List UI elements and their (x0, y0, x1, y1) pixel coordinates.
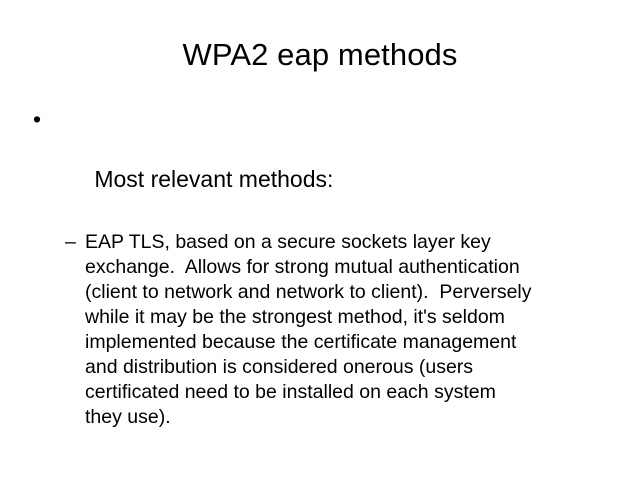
presentation-slide: WPA2 eap methods • Most relevant methods… (0, 0, 640, 480)
slide-body-content: • Most relevant methods: – EAP TLS, base… (0, 104, 640, 430)
bullet-item-level1: • Most relevant methods: (0, 104, 640, 224)
bullet-level1-label: Most relevant methods: (94, 166, 333, 192)
slide-title: WPA2 eap methods (0, 36, 640, 74)
en-dash-bullet-icon: – (65, 230, 76, 255)
round-bullet-icon: • (33, 104, 41, 134)
bullet-item-level2: – EAP TLS, based on a secure sockets lay… (0, 230, 640, 430)
bullet-level2-paragraph: EAP TLS, based on a secure sockets layer… (85, 231, 532, 428)
